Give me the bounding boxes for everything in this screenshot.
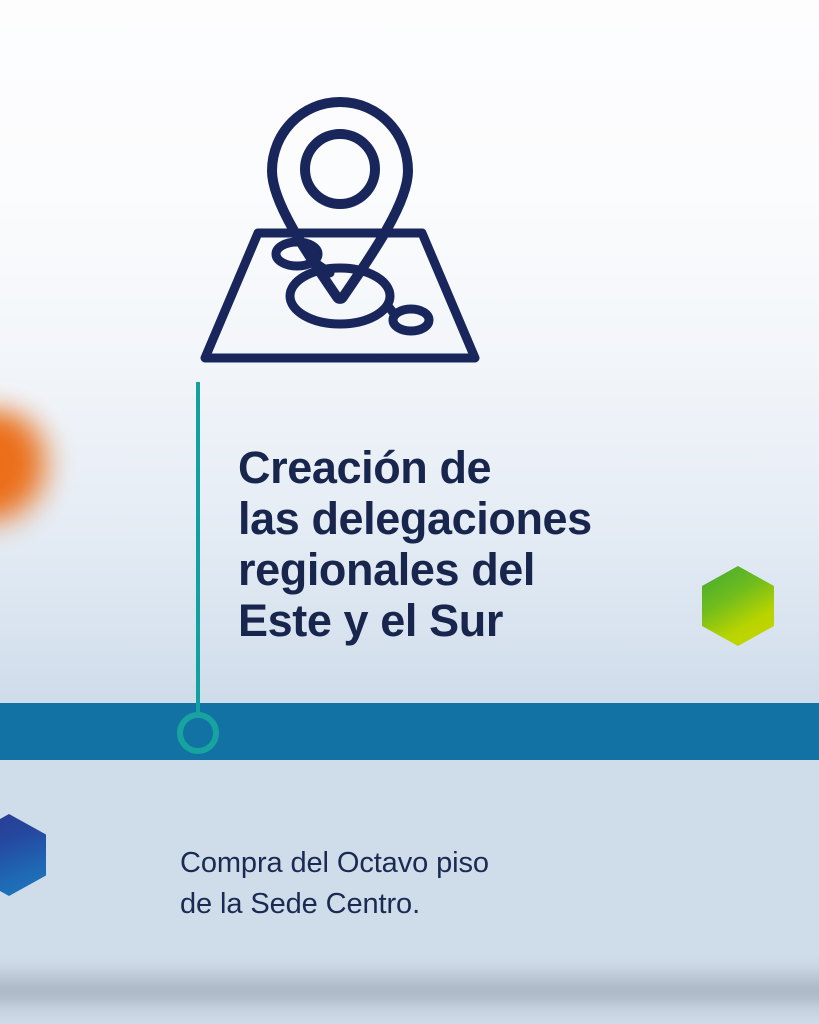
- timeline-band: [0, 703, 819, 760]
- headline-line4-regular: Este y el Sur: [238, 595, 503, 646]
- caption-line-2: de la Sede Centro.: [180, 884, 660, 925]
- blob-orange-icon: [0, 408, 60, 530]
- headline-line-4: Este y el Sur: [238, 595, 708, 646]
- headline-line1-regular: Creación de: [238, 442, 491, 493]
- caption-line-1: Compra del Octavo piso: [180, 843, 660, 884]
- timeline-connector-line: [196, 382, 200, 716]
- headline-line-3: regionales del: [238, 544, 708, 595]
- bottom-shadow-band: [0, 962, 819, 1024]
- headline-line3-bold: regionales: [238, 544, 459, 595]
- timeline-node-marker: [177, 712, 219, 754]
- slide-caption: Compra del Octavo piso de la Sede Centro…: [180, 843, 660, 925]
- headline-line-1: Creación de: [238, 442, 708, 493]
- headline-line2-bold: delegaciones: [311, 493, 591, 544]
- headline-line2-regular: las: [238, 493, 311, 544]
- headline-line-2: las delegaciones: [238, 493, 708, 544]
- hexagon-blue-icon: [0, 814, 46, 896]
- slide-headline: Creación de las delegaciones regionales …: [238, 442, 708, 646]
- slide-canvas: Creación de las delegaciones regionales …: [0, 0, 819, 1024]
- headline-line3-regular: del: [459, 544, 535, 595]
- map-location-pin-icon: [196, 92, 484, 368]
- hexagon-green-icon: [702, 566, 774, 646]
